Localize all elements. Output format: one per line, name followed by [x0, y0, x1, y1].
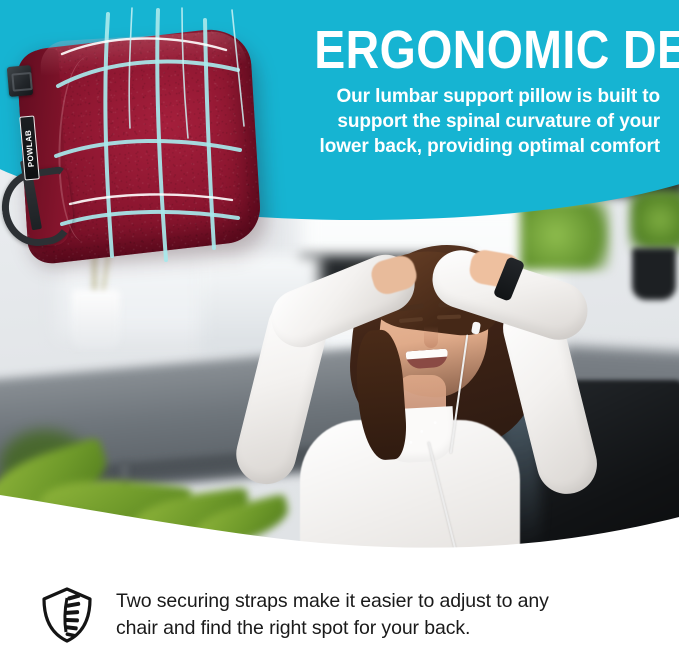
product-marketing-image: ERGONOMIC DESIGN Our lumbar support pill…	[0, 0, 679, 660]
brand-tag-label: POWLAB	[23, 129, 35, 167]
product-image: POWLAB	[0, 8, 300, 278]
footer-caption-row: Two securing straps make it easier to ad…	[40, 586, 650, 644]
caption-line-1: Two securing straps make it easier to ad…	[116, 588, 549, 615]
eye-right-closed	[437, 315, 461, 320]
nose	[424, 326, 438, 348]
strap-buckle-upper	[7, 65, 34, 97]
page-title: ERGONOMIC DESIGN	[314, 22, 660, 78]
subtitle-line-2: support the spinal curvature of your	[258, 109, 660, 134]
footer-caption: Two securing straps make it easier to ad…	[116, 588, 549, 642]
caption-line-2: chair and find the right spot for your b…	[116, 615, 549, 642]
header-text-block: ERGONOMIC DESIGN Our lumbar support pill…	[258, 22, 660, 159]
subtitle-line-1: Our lumbar support pillow is built to	[258, 84, 660, 109]
subtitle-line-3: lower back, providing optimal comfort	[258, 134, 660, 159]
spine-shield-icon	[40, 586, 94, 644]
header-subtitle: Our lumbar support pillow is built to su…	[258, 84, 660, 159]
teeth	[405, 349, 447, 360]
